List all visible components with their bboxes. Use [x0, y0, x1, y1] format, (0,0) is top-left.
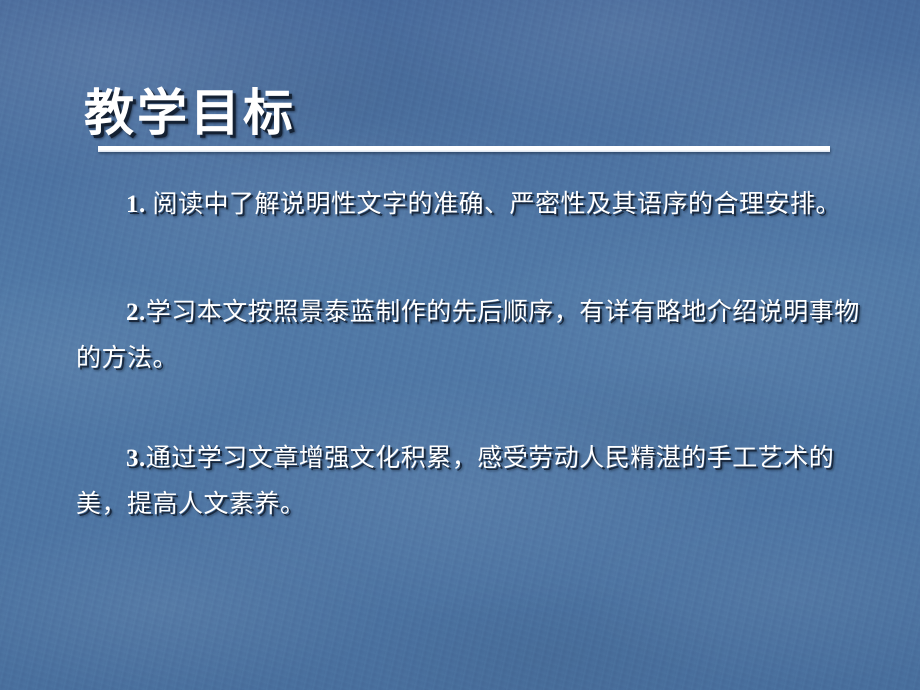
list-item: 1. 阅读中了解说明性文字的准确、严密性及其语序的合理安排。	[76, 182, 866, 228]
presentation-slide: 教学目标 1. 阅读中了解说明性文字的准确、严密性及其语序的合理安排。 2.学习…	[0, 0, 920, 690]
page-title: 教学目标	[84, 86, 296, 140]
title-divider	[98, 146, 830, 152]
list-item: 2.学习本文按照景泰蓝制作的先后顺序，有详有略地介绍说明事物的方法。	[76, 290, 866, 382]
goal-text: 阅读中了解说明性文字的准确、严密性及其语序的合理安排。	[146, 191, 841, 218]
goal-number: 3.	[126, 445, 146, 472]
goal-text: 通过学习文章增强文化积累，感受劳动人民精湛的手工艺术的美，提高人文素养。	[76, 445, 834, 518]
goal-text: 学习本文按照景泰蓝制作的先后顺序，有详有略地介绍说明事物的方法。	[76, 299, 860, 372]
goal-number: 1.	[126, 191, 146, 218]
goal-number: 2.	[126, 299, 146, 326]
goals-list: 1. 阅读中了解说明性文字的准确、严密性及其语序的合理安排。 2.学习本文按照景…	[76, 182, 866, 528]
list-item: 3.通过学习文章增强文化积累，感受劳动人民精湛的手工艺术的美，提高人文素养。	[76, 436, 866, 528]
